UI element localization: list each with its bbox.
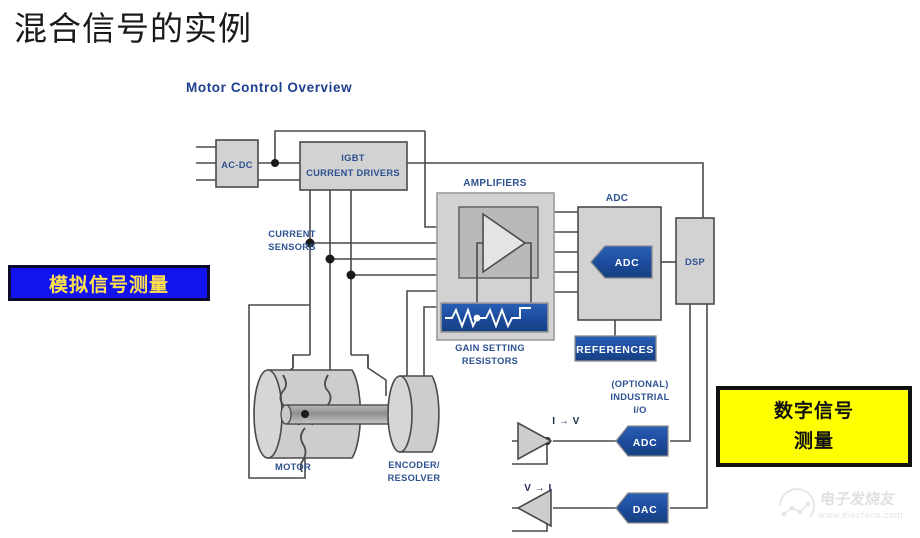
label-gain-line2: RESISTORS (462, 356, 518, 366)
wire-encoder-1 (407, 291, 437, 355)
block-encoder-label-line1: ENCODER/ (388, 460, 440, 470)
block-industrial-io: (OPTIONAL) INDUSTRIAL I/O I → V ADC V → … (518, 379, 670, 526)
wire-motor-leg-3 (351, 355, 368, 368)
block-adc-arrow-label: ADC (615, 257, 640, 269)
label-gain-line1: GAIN SETTING (455, 343, 525, 353)
junction-motor-star (301, 410, 309, 418)
block-references: REFERENCES (575, 336, 656, 361)
block-io-dac-label: DAC (633, 504, 658, 516)
junction-acdc (271, 159, 279, 167)
block-igbt-current-drivers: IGBT CURRENT DRIVERS (300, 142, 407, 190)
block-dsp: DSP (676, 218, 714, 304)
block-io-adc-label: ADC (633, 437, 658, 449)
label-io-line1: (OPTIONAL) (611, 379, 668, 389)
wire-encoder-2 (424, 307, 437, 355)
label-current-sensors-line2: SENSORS (268, 242, 316, 252)
callout-analog-measurement: 模拟信号测量 (8, 265, 210, 301)
block-motor-label: MOTOR (275, 462, 311, 472)
block-references-label: REFERENCES (576, 344, 654, 356)
block-amplifiers: AMPLIFIERS GAIN SETTING RESISTORS (437, 178, 554, 366)
junction-sense-2 (326, 255, 335, 264)
label-current-sensors-line1: CURRENT (268, 229, 316, 239)
block-encoder-label-line2: RESOLVER (388, 473, 441, 483)
slide-canvas: 混合信号的实例 Motor Control Overview (0, 0, 920, 538)
junction-gain-tap (474, 315, 481, 322)
callout-digital-measurement: 数字信号 测量 (716, 386, 912, 467)
wire-dsp-io-adc (670, 304, 690, 441)
block-encoder-resolver: ENCODER/ RESOLVER (388, 355, 441, 483)
block-adc-title: ADC (606, 193, 629, 204)
block-adc: ADC ADC (578, 193, 661, 320)
block-ac-dc-label: AC-DC (221, 160, 252, 170)
callout-digital-text-line1: 数字信号 (774, 397, 854, 427)
label-v-to-i: V → I (524, 483, 552, 494)
callout-analog-text: 模拟信号测量 (49, 270, 169, 297)
label-io-line3: I/O (633, 405, 646, 415)
block-dsp-label: DSP (685, 257, 705, 267)
wire-motor-leg-1 (293, 355, 310, 368)
callout-digital-text-line2: 测量 (794, 427, 834, 457)
block-motor: MOTOR (254, 355, 410, 472)
block-amplifiers-label: AMPLIFIERS (463, 178, 527, 189)
block-igbt-label-line1: IGBT (341, 153, 364, 163)
block-igbt-label-line2: CURRENT DRIVERS (306, 168, 400, 178)
label-i-to-v: I → V (552, 416, 580, 427)
wire-igbt-feedback-down (425, 131, 437, 227)
label-io-line2: INDUSTRIAL (610, 392, 669, 402)
junction-sense-3 (347, 271, 356, 280)
wire-dsp-io-dac (670, 304, 707, 508)
block-ac-dc: AC-DC (216, 140, 258, 187)
